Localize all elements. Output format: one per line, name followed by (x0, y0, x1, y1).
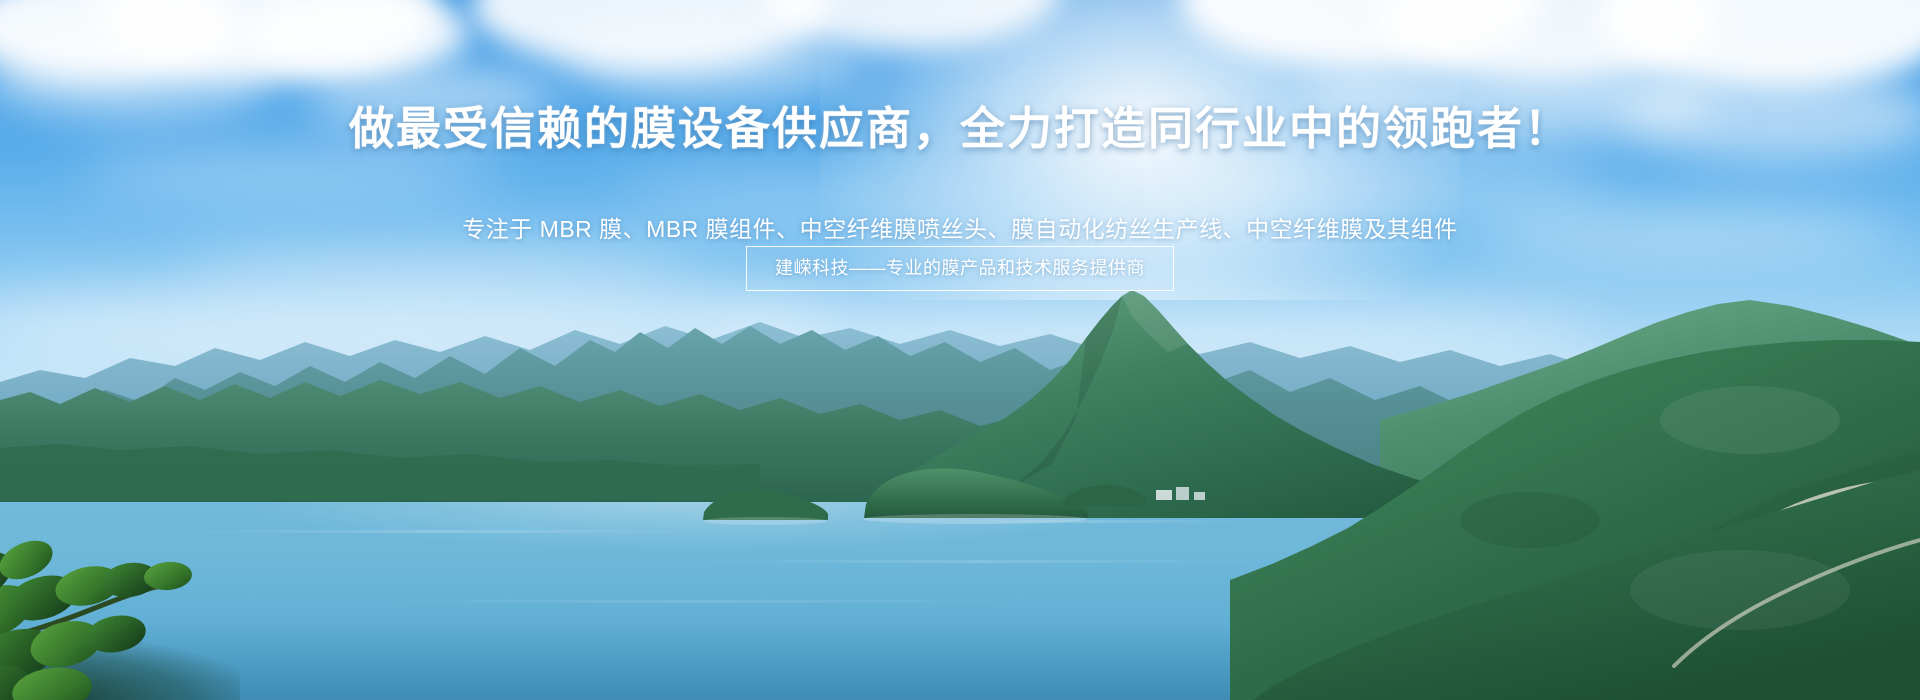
tagline-badge: 建嵘科技——专业的膜产品和技术服务提供商 (746, 246, 1174, 291)
tagline-container: 建嵘科技——专业的膜产品和技术服务提供商 (0, 246, 1920, 291)
hero-banner: 做最受信赖的膜设备供应商，全力打造同行业中的领跑者！ 专注于 MBR 膜、MBR… (0, 0, 1920, 700)
page-title: 做最受信赖的膜设备供应商，全力打造同行业中的领跑者！ (0, 100, 1920, 158)
hero-copy: 做最受信赖的膜设备供应商，全力打造同行业中的领跑者！ 专注于 MBR 膜、MBR… (0, 0, 1920, 700)
hero-subtitle: 专注于 MBR 膜、MBR 膜组件、中空纤维膜喷丝头、膜自动化纺丝生产线、中空纤… (0, 212, 1920, 246)
